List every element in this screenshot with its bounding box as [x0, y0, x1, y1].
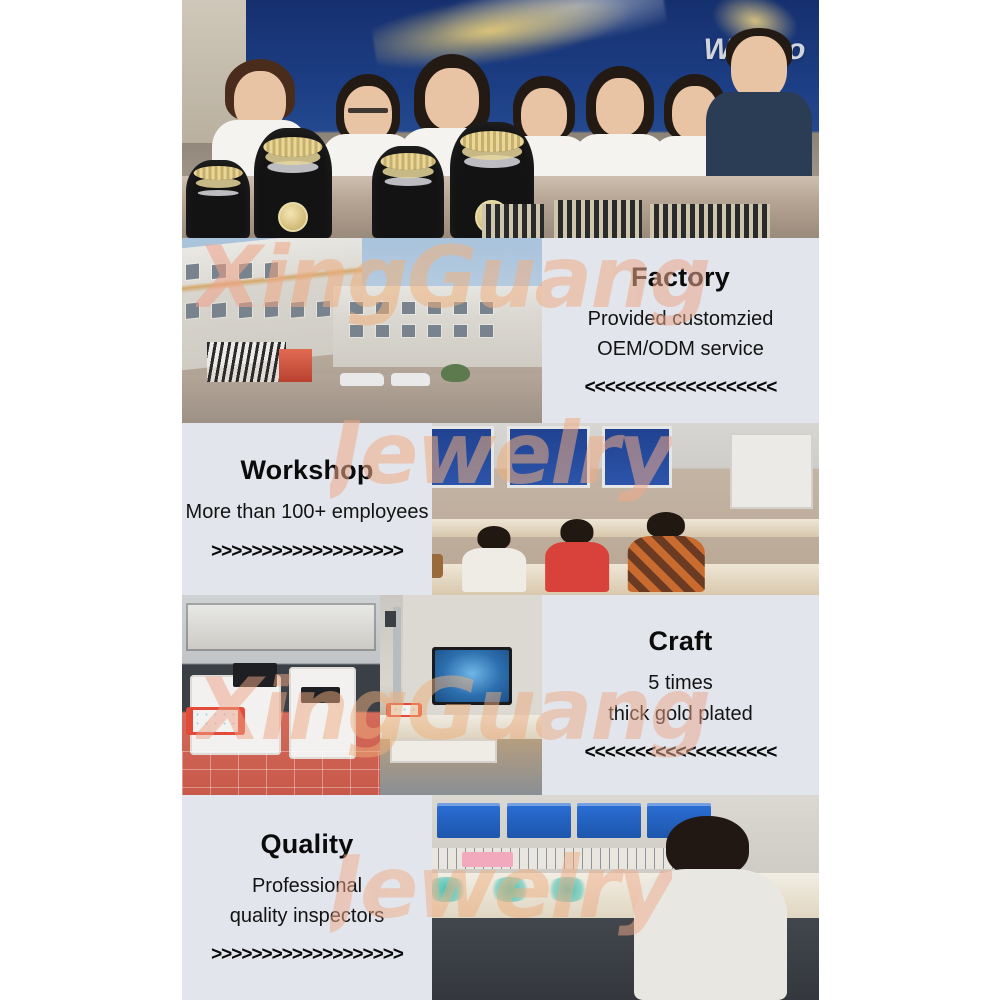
jewelry-bust-3	[372, 146, 444, 238]
factory-line-1: Provided customzied	[588, 304, 774, 334]
panel-factory: Factory Provided customzied OEM/ODM serv…	[542, 238, 819, 423]
storage-bin-1	[437, 803, 501, 838]
chiller-display	[301, 687, 341, 703]
desk-drawer	[390, 739, 497, 763]
pink-foam-stack-3	[462, 852, 513, 866]
row-factory: Factory Provided customzied OEM/ODM serv…	[182, 238, 819, 423]
workshop-worker-4	[545, 519, 609, 591]
promo-banner-page: Wuzho	[0, 0, 1000, 1000]
factory-arrows-icon: <<<<<<<<<<<<<<<<<<<	[585, 377, 777, 399]
craft-title: Craft	[648, 626, 712, 657]
factory-car-2	[391, 373, 431, 386]
jewelry-tray-2	[554, 200, 642, 238]
jewelry-bust-2	[254, 128, 332, 238]
jewelry-tray-1	[482, 204, 544, 238]
equipment-shelf	[186, 603, 376, 651]
jewelry-bust-1	[186, 160, 250, 238]
marking-head	[385, 611, 396, 627]
row-workshop: Workshop More than 100+ employees >>>>>>…	[182, 423, 819, 595]
content-column: Wuzho	[182, 0, 819, 1000]
floor-tiles	[182, 751, 380, 795]
factory-tree	[441, 364, 470, 383]
factory-gate	[207, 342, 286, 383]
row-quality: Quality Professional quality inspectors …	[182, 795, 819, 1000]
laser-welder-screen	[233, 663, 277, 687]
workshop-arrows-icon: >>>>>>>>>>>>>>>>>>>	[211, 541, 403, 563]
factory-truck	[279, 349, 311, 382]
storage-bin-3	[577, 803, 641, 838]
laser-equipment-photo	[182, 595, 380, 795]
inspector-body	[634, 869, 787, 1000]
workshop-worker-3	[462, 526, 526, 591]
craft-arrows-icon: <<<<<<<<<<<<<<<<<<<	[585, 742, 777, 764]
team-photo: Wuzho	[182, 0, 819, 238]
marking-machine-photo	[380, 595, 542, 795]
inspector-head	[666, 816, 749, 878]
work-desk	[380, 715, 542, 739]
workshop-title: Workshop	[240, 455, 373, 486]
teal-pattern-3	[488, 877, 533, 902]
parts-tray	[186, 707, 245, 735]
row-team-photo: Wuzho	[182, 0, 819, 238]
factory-title: Factory	[631, 262, 730, 293]
panel-quality: Quality Professional quality inspectors …	[182, 795, 432, 1000]
workshop-cabinet-2	[730, 433, 813, 509]
small-parts-tray	[386, 703, 422, 717]
quality-line-1: Professional	[252, 871, 362, 901]
factory-exterior-photo	[182, 238, 542, 423]
factory-building-right	[333, 286, 542, 367]
teal-pattern-4	[545, 877, 590, 902]
workshop-window-3	[602, 426, 672, 488]
quality-arrows-icon: >>>>>>>>>>>>>>>>>>>	[211, 944, 403, 966]
chiller-unit	[289, 667, 356, 759]
jewelry-tray-3	[650, 204, 770, 238]
quality-line-2: quality inspectors	[230, 901, 385, 931]
workshop-line-1: More than 100+ employees	[186, 497, 429, 527]
quality-title: Quality	[261, 829, 354, 860]
computer-monitor	[432, 647, 513, 705]
craft-line-1: 5 times	[648, 668, 712, 698]
craft-line-2: thick gold plated	[608, 699, 753, 729]
workshop-worker-5	[628, 512, 704, 591]
factory-car-1	[340, 373, 383, 386]
storage-bin-2	[507, 803, 571, 838]
row-craft: Craft 5 times thick gold plated <<<<<<<<…	[182, 595, 819, 795]
workshop-window-2	[507, 426, 590, 488]
panel-craft: Craft 5 times thick gold plated <<<<<<<<…	[542, 595, 819, 795]
panel-workshop: Workshop More than 100+ employees >>>>>>…	[182, 423, 432, 595]
factory-line-2: OEM/ODM service	[597, 334, 764, 364]
